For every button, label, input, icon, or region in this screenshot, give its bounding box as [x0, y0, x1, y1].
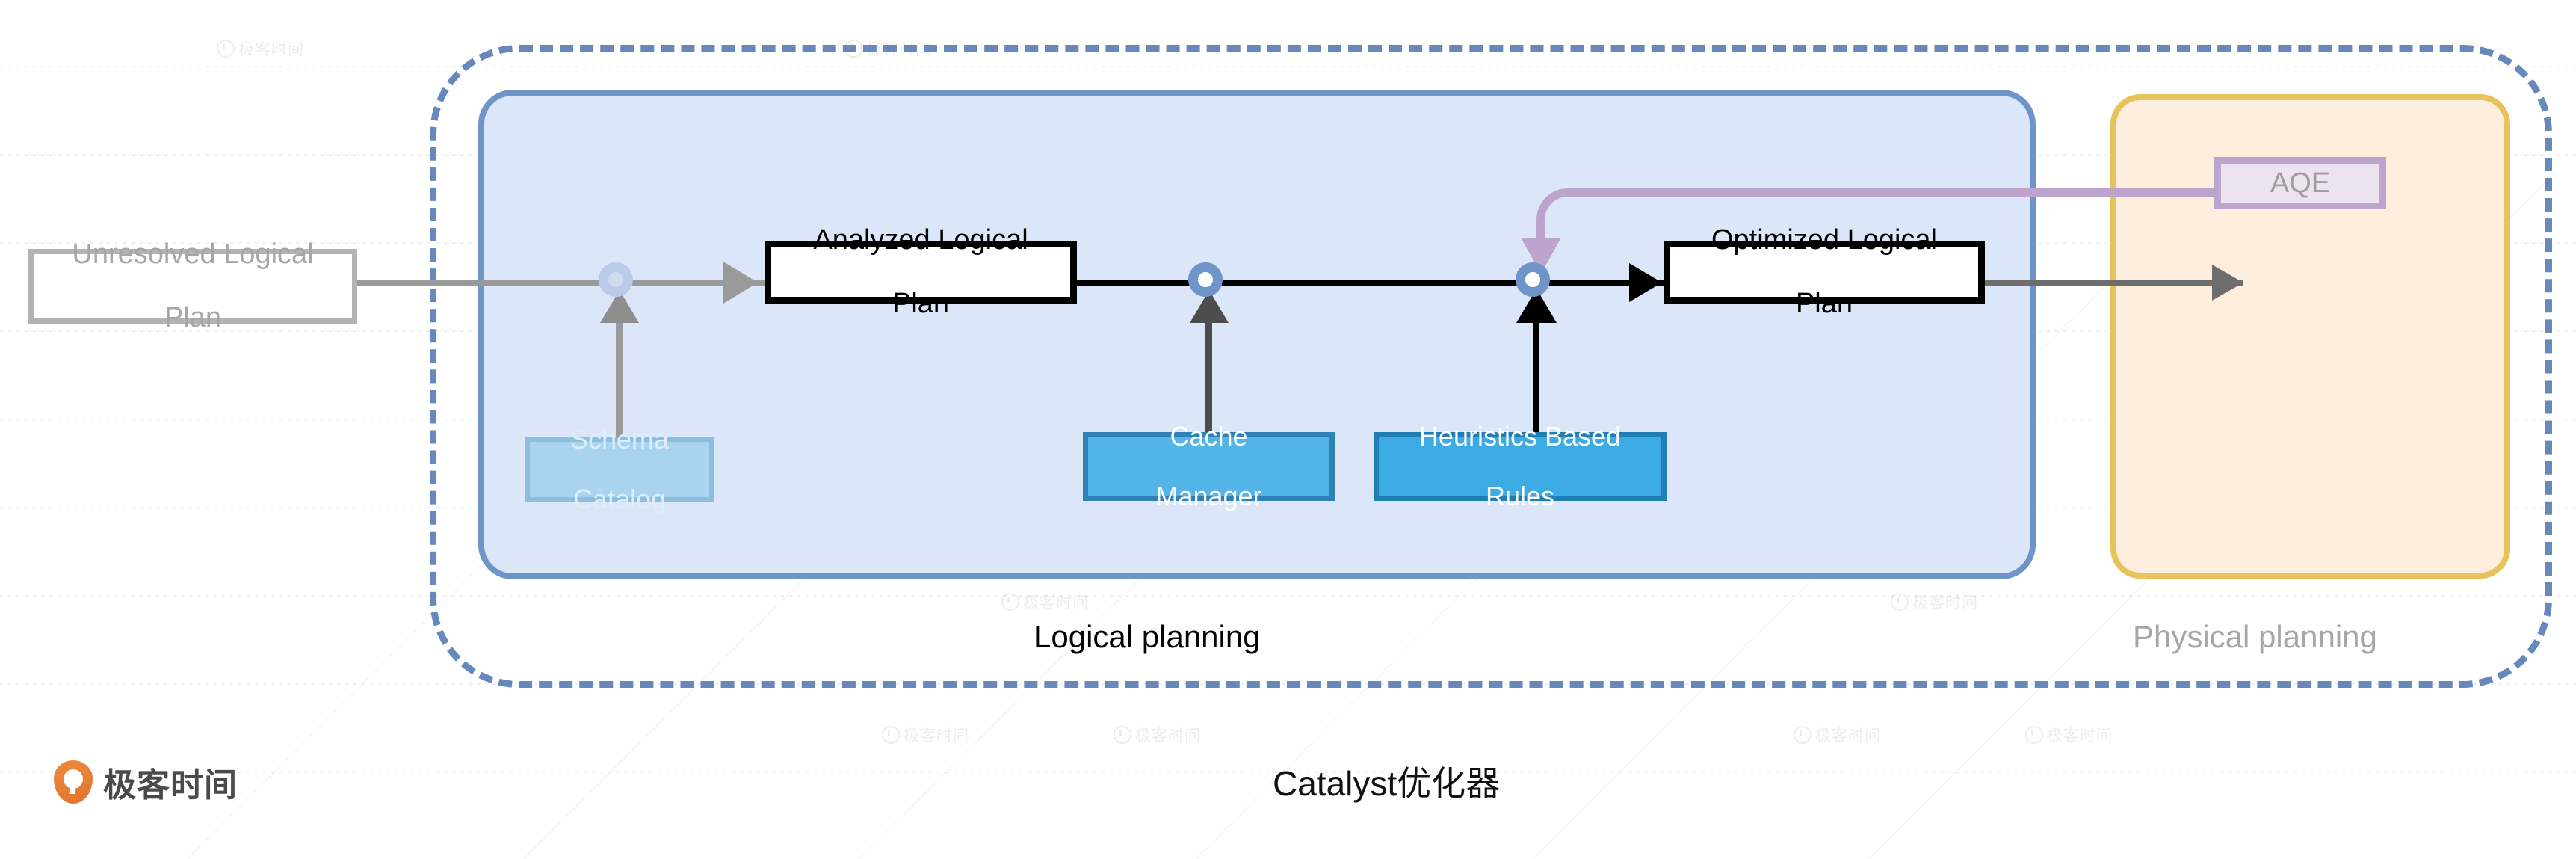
watermark-text: 极客时间 [1114, 724, 1201, 746]
node-analyzed-logical-plan[interactable]: Analyzed Logical Plan [765, 241, 1077, 304]
node-label-line1: Optimized Logical [1707, 224, 1942, 256]
node-cache-manager[interactable]: Cache Manager [1083, 432, 1335, 501]
arrowhead-into-optimized [1629, 263, 1662, 302]
junction-dot-cache [1188, 262, 1223, 297]
node-label-line1: Analyzed Logical [809, 224, 1032, 256]
edge-analyzed-to-optimized [1077, 280, 1664, 286]
node-schema-catalog[interactable]: Schema Catalog [525, 437, 714, 502]
node-aqe[interactable]: AQE [2214, 157, 2386, 209]
arrowhead-into-analyzed [723, 262, 758, 304]
node-label-line1: Heuristics Based [1415, 422, 1625, 452]
node-label-line2: Plan [1707, 288, 1942, 320]
node-label-line2: Plan [67, 302, 318, 334]
arrowhead-into-physical [2212, 265, 2243, 301]
node-label-line2: Plan [809, 288, 1032, 320]
geektime-logo-icon [54, 760, 93, 804]
edge-unresolved-to-analyzed [357, 280, 765, 286]
watermark-text: 极客时间 [1794, 724, 1881, 746]
node-label-line1: Unresolved Logical [67, 238, 318, 271]
label-logical-planning: Logical planning [1034, 619, 1261, 655]
edge-aqe-horizontal [1571, 188, 2221, 197]
node-label-line1: Cache [1151, 422, 1266, 452]
node-heuristics-based-rules[interactable]: Heuristics Based Rules [1374, 432, 1667, 501]
junction-dot-heuristics [1516, 262, 1550, 297]
geektime-logo: 极客时间 [54, 758, 238, 806]
diagram-canvas: 极客时间 极客时间 极客时间 极客时间 极客时间 极客时间 极客时间 极客时间 … [0, 0, 2576, 859]
diagram-title: Catalyst优化器 [1273, 757, 1500, 806]
label-physical-planning: Physical planning [2133, 619, 2377, 655]
edge-cache-to-junction [1205, 314, 1212, 437]
edge-schema-to-junction [616, 314, 623, 441]
edge-optimized-to-physical [1985, 280, 2243, 286]
edge-heuristics-to-junction [1533, 314, 1539, 437]
node-label-line2: Catalog [566, 484, 673, 514]
node-optimized-logical-plan[interactable]: Optimized Logical Plan [1664, 241, 1985, 304]
junction-dot-schema [599, 262, 633, 297]
node-label-line1: Schema [566, 425, 673, 455]
node-label-line2: Manager [1151, 481, 1266, 511]
node-label-line2: Rules [1415, 481, 1625, 511]
node-unresolved-logical-plan[interactable]: Unresolved Logical Plan [28, 249, 357, 324]
geektime-logo-text: 极客时间 [103, 758, 238, 806]
watermark-text: 极客时间 [882, 724, 969, 746]
node-label-aqe: AQE [2266, 167, 2335, 200]
watermark-text: 极客时间 [2025, 724, 2113, 746]
watermark-text: 极客时间 [217, 37, 304, 60]
